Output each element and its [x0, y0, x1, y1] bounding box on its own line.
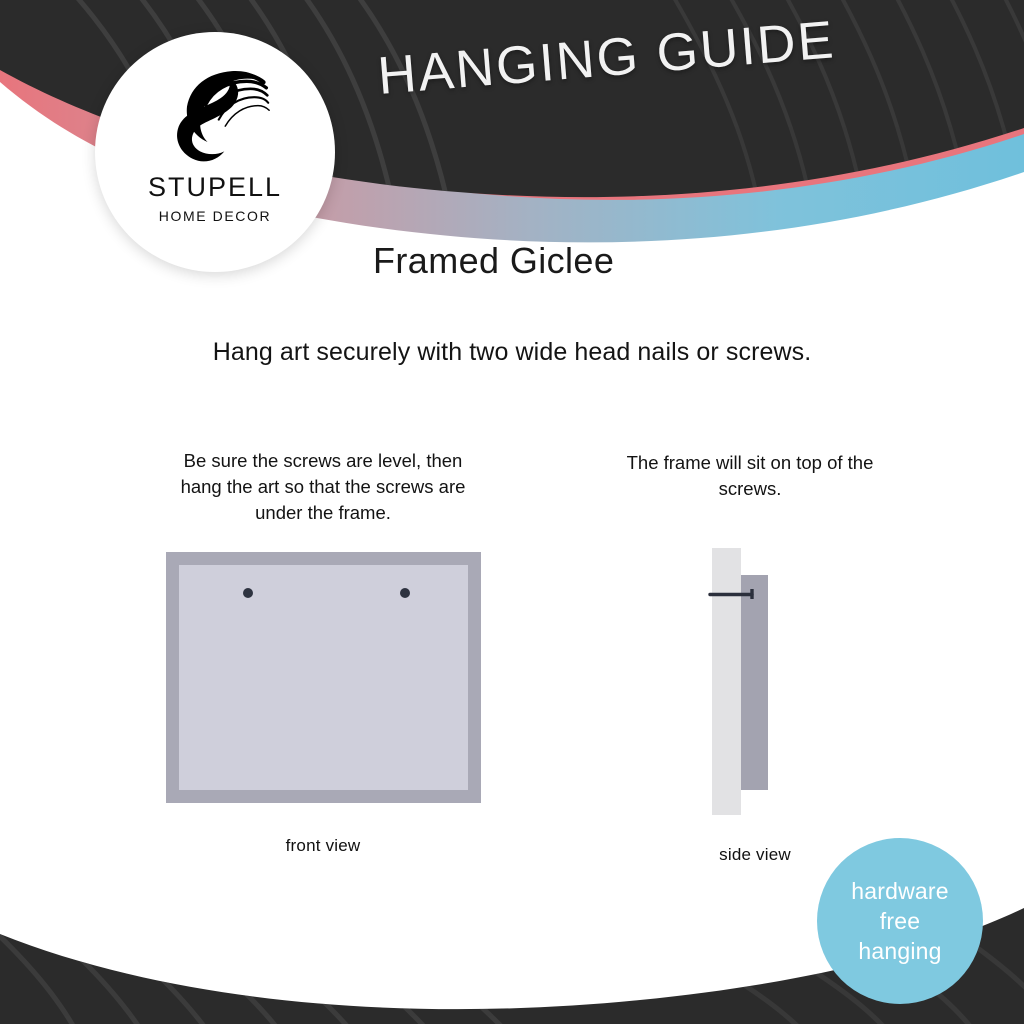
product-type-heading: Framed Giclee — [373, 240, 614, 282]
brand-logo-badge: STUPELL HOME DECOR — [95, 32, 335, 272]
screw-side-icon — [708, 589, 763, 599]
front-view-caption: Be sure the screws are level, then hang … — [168, 448, 478, 526]
hanging-guide-page: HANGING GUIDE STUPELL HOME DECOR Framed … — [0, 0, 1024, 1024]
badge-line-2: free — [880, 906, 920, 936]
side-view-diagram — [700, 548, 810, 818]
badge-line-1: hardware — [851, 876, 949, 906]
badge-line-3: hanging — [858, 936, 941, 966]
brand-name: STUPELL — [148, 172, 282, 203]
hardware-free-badge: hardware free hanging — [817, 838, 983, 1004]
side-view-caption: The frame will sit on top of the screws. — [600, 450, 900, 502]
front-view-label: front view — [168, 836, 478, 856]
front-view-mat — [179, 565, 468, 790]
screw-head-icon — [400, 588, 410, 598]
main-instruction-text: Hang art securely with two wide head nai… — [0, 338, 1024, 367]
frame-strip — [741, 575, 768, 790]
side-view-label: side view — [660, 845, 850, 865]
brand-subtitle: HOME DECOR — [159, 208, 271, 224]
front-view-diagram — [166, 552, 481, 803]
page-title: HANGING GUIDE — [376, 4, 899, 107]
screw-head-icon — [243, 588, 253, 598]
stupell-swoosh-icon — [159, 58, 271, 170]
